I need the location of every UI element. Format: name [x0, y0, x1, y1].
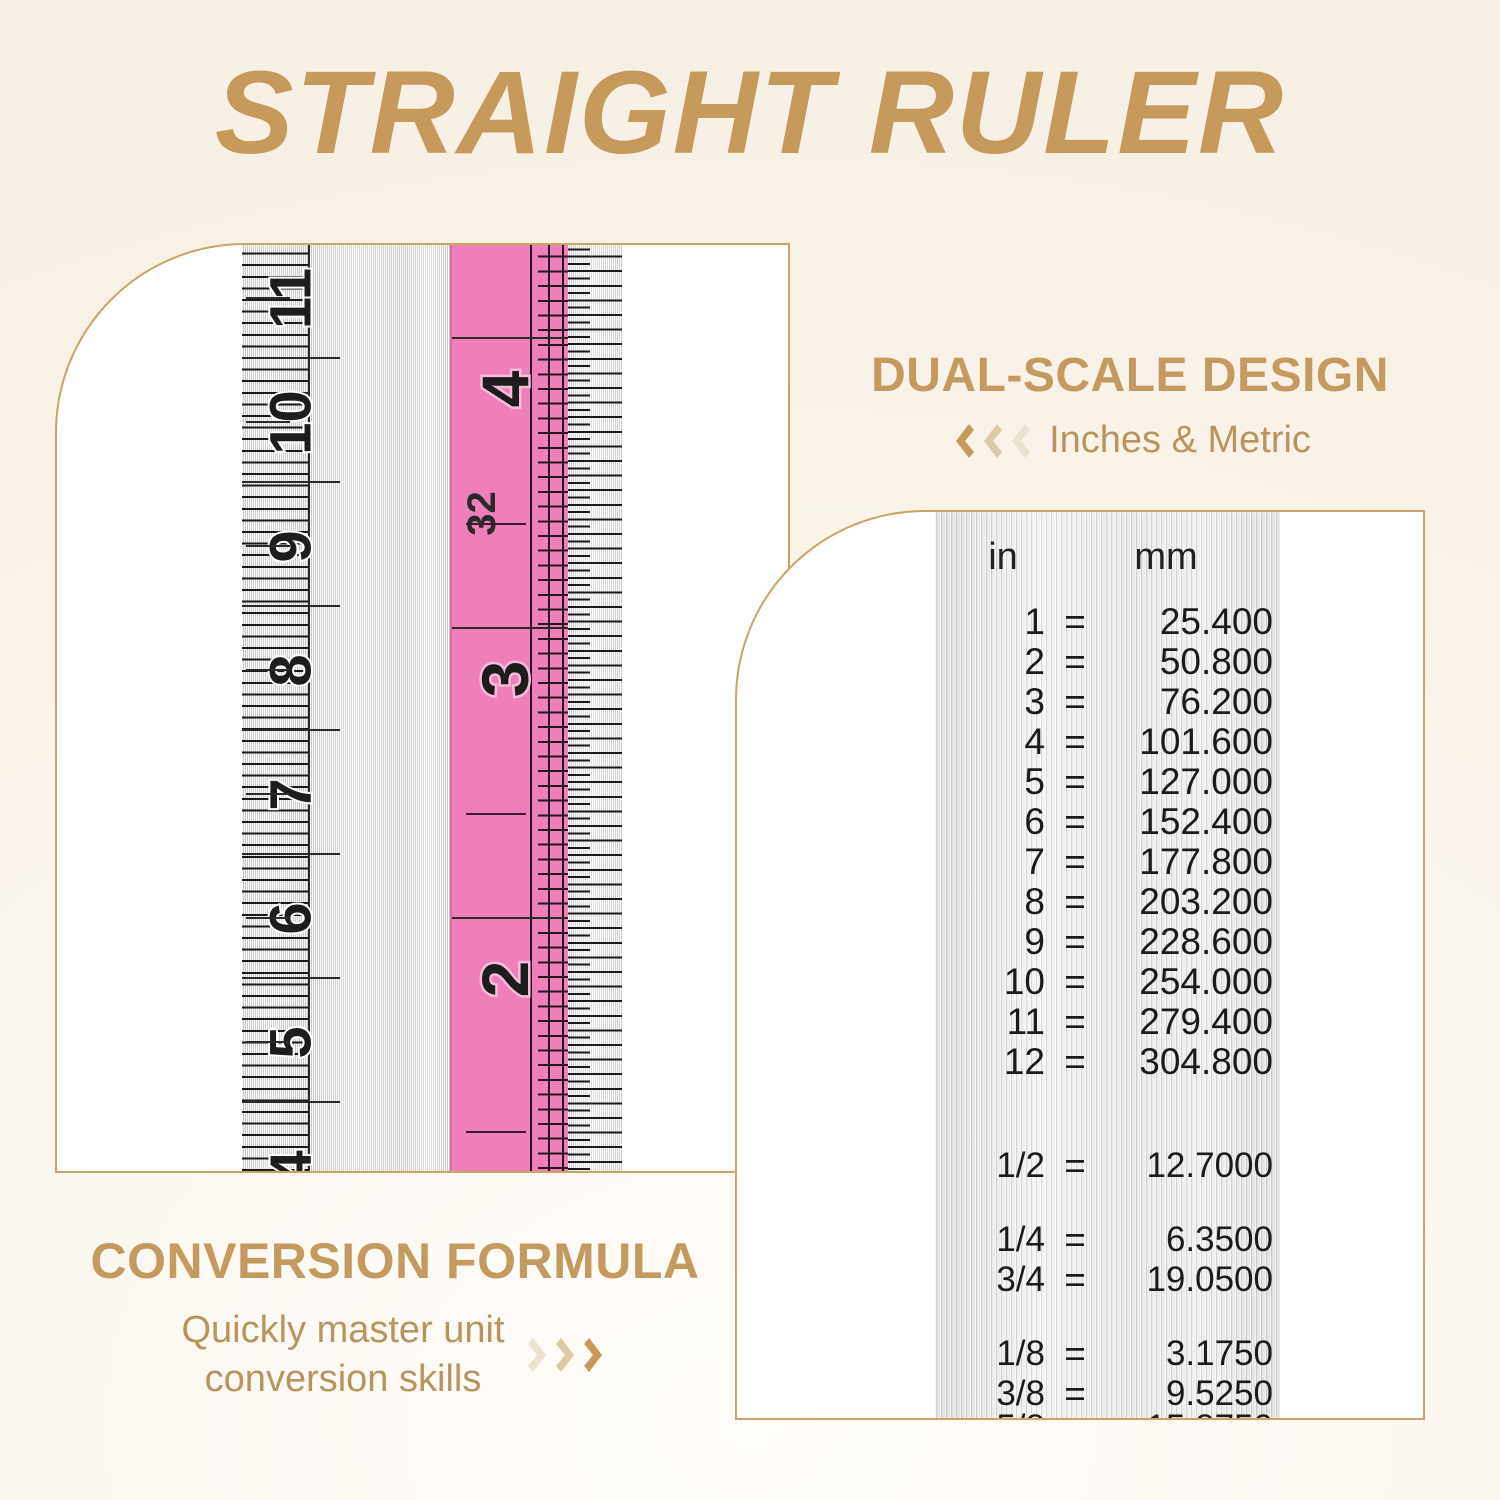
- table-row: 1/4 = 6.3500: [935, 1220, 1280, 1260]
- cm-half-tick: [246, 793, 290, 795]
- cell-mm: 254.000: [1101, 962, 1273, 1002]
- table-row: 10 = 254.000: [935, 962, 1280, 1002]
- cm-half-tick: [246, 297, 290, 299]
- cell-in: 9: [935, 922, 1045, 962]
- dual-scale-heading: DUAL-SCALE DESIGN: [820, 348, 1440, 403]
- cell-mm: 19.0500: [1101, 1260, 1273, 1300]
- cell-in: 8: [935, 882, 1045, 922]
- table-row: 1/8 = 3.1750: [935, 1334, 1280, 1374]
- cell-in: 1/4: [935, 1220, 1045, 1260]
- table-row: 3/4 = 19.0500: [935, 1260, 1280, 1300]
- inch-half-tick: [466, 813, 526, 815]
- chevron-left-icon: [1005, 421, 1031, 461]
- cell-equals: =: [1053, 882, 1097, 922]
- cell-mm: 228.600: [1101, 922, 1273, 962]
- cell-mm: 50.800: [1101, 642, 1273, 682]
- table-row: 3 = 76.200: [935, 682, 1280, 722]
- ruler-product-image: 11 10 9 8 7 6 5 4: [242, 243, 622, 1173]
- cell-in: 7: [935, 842, 1045, 882]
- table-row: 2 = 50.800: [935, 642, 1280, 682]
- column-header-mm: mm: [1081, 536, 1251, 579]
- ruler-photo-panel: 11 10 9 8 7 6 5 4: [55, 243, 790, 1173]
- cell-in: 6: [935, 802, 1045, 842]
- table-row: 1/2 = 12.7000: [935, 1146, 1280, 1186]
- cell-equals: =: [1053, 1002, 1097, 1042]
- table-row: 5 = 127.000: [935, 762, 1280, 802]
- cell-equals: =: [1053, 602, 1097, 642]
- cm-half-tick: [246, 917, 290, 919]
- metal-blank-band: [406, 243, 450, 1173]
- cell-in: 10: [935, 962, 1045, 1002]
- conversion-subheading-line2: conversion skills: [205, 1358, 482, 1400]
- conversion-subheading-line1: Quickly master unit: [181, 1309, 504, 1351]
- cell-in: 5: [935, 762, 1045, 802]
- dual-scale-feature-block: DUAL-SCALE DESIGN Inches & Metric: [820, 348, 1440, 462]
- cell-mm: 177.800: [1101, 842, 1273, 882]
- cell-equals: =: [1053, 682, 1097, 722]
- cm-half-tick: [246, 421, 290, 423]
- inch-number: 4: [467, 330, 543, 448]
- chevron-right-icon: [555, 1335, 581, 1375]
- cm-number: 4: [258, 1118, 325, 1174]
- inch-half-tick: [466, 1131, 526, 1133]
- table-row: 1 = 25.400: [935, 602, 1280, 642]
- cell-equals: =: [1053, 1408, 1097, 1420]
- table-row: 8 = 203.200: [935, 882, 1280, 922]
- cell-equals: =: [1053, 722, 1097, 762]
- table-row: 5/8 = 15.8750: [935, 1408, 1280, 1420]
- cell-mm: 25.400: [1101, 602, 1273, 642]
- cell-in: 1/2: [935, 1146, 1045, 1186]
- cell-in: 5/8: [935, 1408, 1045, 1420]
- cell-equals: =: [1053, 762, 1097, 802]
- chevron-right-group: [527, 1335, 609, 1375]
- chevron-left-icon: [977, 421, 1003, 461]
- cell-equals: =: [1053, 1042, 1097, 1082]
- conversion-formula-subheading: Quickly master unit conversion skills: [181, 1306, 504, 1403]
- inch-cell: [452, 243, 570, 339]
- cell-equals: =: [1053, 802, 1097, 842]
- cell-equals: =: [1053, 1260, 1097, 1300]
- cell-mm: 6.3500: [1101, 1220, 1273, 1260]
- cell-mm: 127.000: [1101, 762, 1273, 802]
- inch-number: 3: [467, 620, 543, 738]
- column-header-in: in: [963, 536, 1043, 579]
- conversion-formula-feature-block: CONVERSION FORMULA Quickly master unit c…: [45, 1232, 745, 1403]
- inch-half-tick: [466, 523, 526, 525]
- inch-subdivision-hatch-band: [568, 243, 622, 1173]
- cell-equals: =: [1053, 642, 1097, 682]
- cell-in: 12: [935, 1042, 1045, 1082]
- conversion-formula-subheading-row: Quickly master unit conversion skills: [45, 1306, 745, 1403]
- cell-equals: =: [1053, 1334, 1097, 1374]
- cell-in: 2: [935, 642, 1045, 682]
- cell-mm: 203.200: [1101, 882, 1273, 922]
- cell-in: 3: [935, 682, 1045, 722]
- cm-half-tick: [246, 669, 290, 671]
- table-row: 6 = 152.400: [935, 802, 1280, 842]
- cell-equals: =: [1053, 922, 1097, 962]
- conversion-formula-heading: CONVERSION FORMULA: [45, 1232, 745, 1290]
- cell-mm: 12.7000: [1101, 1146, 1273, 1186]
- table-row: 7 = 177.800: [935, 842, 1280, 882]
- chevron-right-icon: [527, 1335, 553, 1375]
- page-title: STRAIGHT RULER: [0, 52, 1500, 176]
- dual-scale-subheading: Inches & Metric: [1049, 419, 1311, 462]
- cell-equals: =: [1053, 1220, 1097, 1260]
- cell-in: 4: [935, 722, 1045, 762]
- cell-equals: =: [1053, 962, 1097, 1002]
- inch-fraction-label: 32: [460, 491, 505, 536]
- cell-in: 3/4: [935, 1260, 1045, 1300]
- cell-equals: =: [1053, 1146, 1097, 1186]
- cell-mm: 76.200: [1101, 682, 1273, 722]
- cell-mm: 304.800: [1101, 1042, 1273, 1082]
- infographic-canvas: STRAIGHT RULER 11 10 9 8 7 6: [0, 0, 1500, 1500]
- cm-half-tick: [246, 545, 290, 547]
- cell-mm: 101.600: [1101, 722, 1273, 762]
- inch-number: 2: [467, 920, 543, 1038]
- chevron-left-icon: [949, 421, 975, 461]
- cell-in: 1/8: [935, 1334, 1045, 1374]
- cell-mm: 3.1750: [1101, 1334, 1273, 1374]
- cell-in: 1: [935, 602, 1045, 642]
- chevron-right-icon: [583, 1335, 609, 1375]
- inch-scale-pink-band: 4 32 3 2: [450, 243, 570, 1173]
- table-row: 4 = 101.600: [935, 722, 1280, 762]
- cm-half-tick: [246, 1041, 290, 1043]
- cell-mm: 279.400: [1101, 1002, 1273, 1042]
- cell-mm: 15.8750: [1101, 1408, 1273, 1420]
- table-row: 12 = 304.800: [935, 1042, 1280, 1082]
- conversion-table-metal-strip: in mm 1 = 25.400 2 = 50.800 3 = 76.200 4: [935, 510, 1280, 1420]
- cell-in: 11: [935, 1002, 1045, 1042]
- dual-scale-subheading-row: Inches & Metric: [820, 419, 1440, 462]
- cell-equals: =: [1053, 842, 1097, 882]
- cell-mm: 152.400: [1101, 802, 1273, 842]
- conversion-table-panel: in mm 1 = 25.400 2 = 50.800 3 = 76.200 4: [735, 510, 1425, 1420]
- table-row: 9 = 228.600: [935, 922, 1280, 962]
- chevron-left-group: [949, 421, 1031, 461]
- table-row: 11 = 279.400: [935, 1002, 1280, 1042]
